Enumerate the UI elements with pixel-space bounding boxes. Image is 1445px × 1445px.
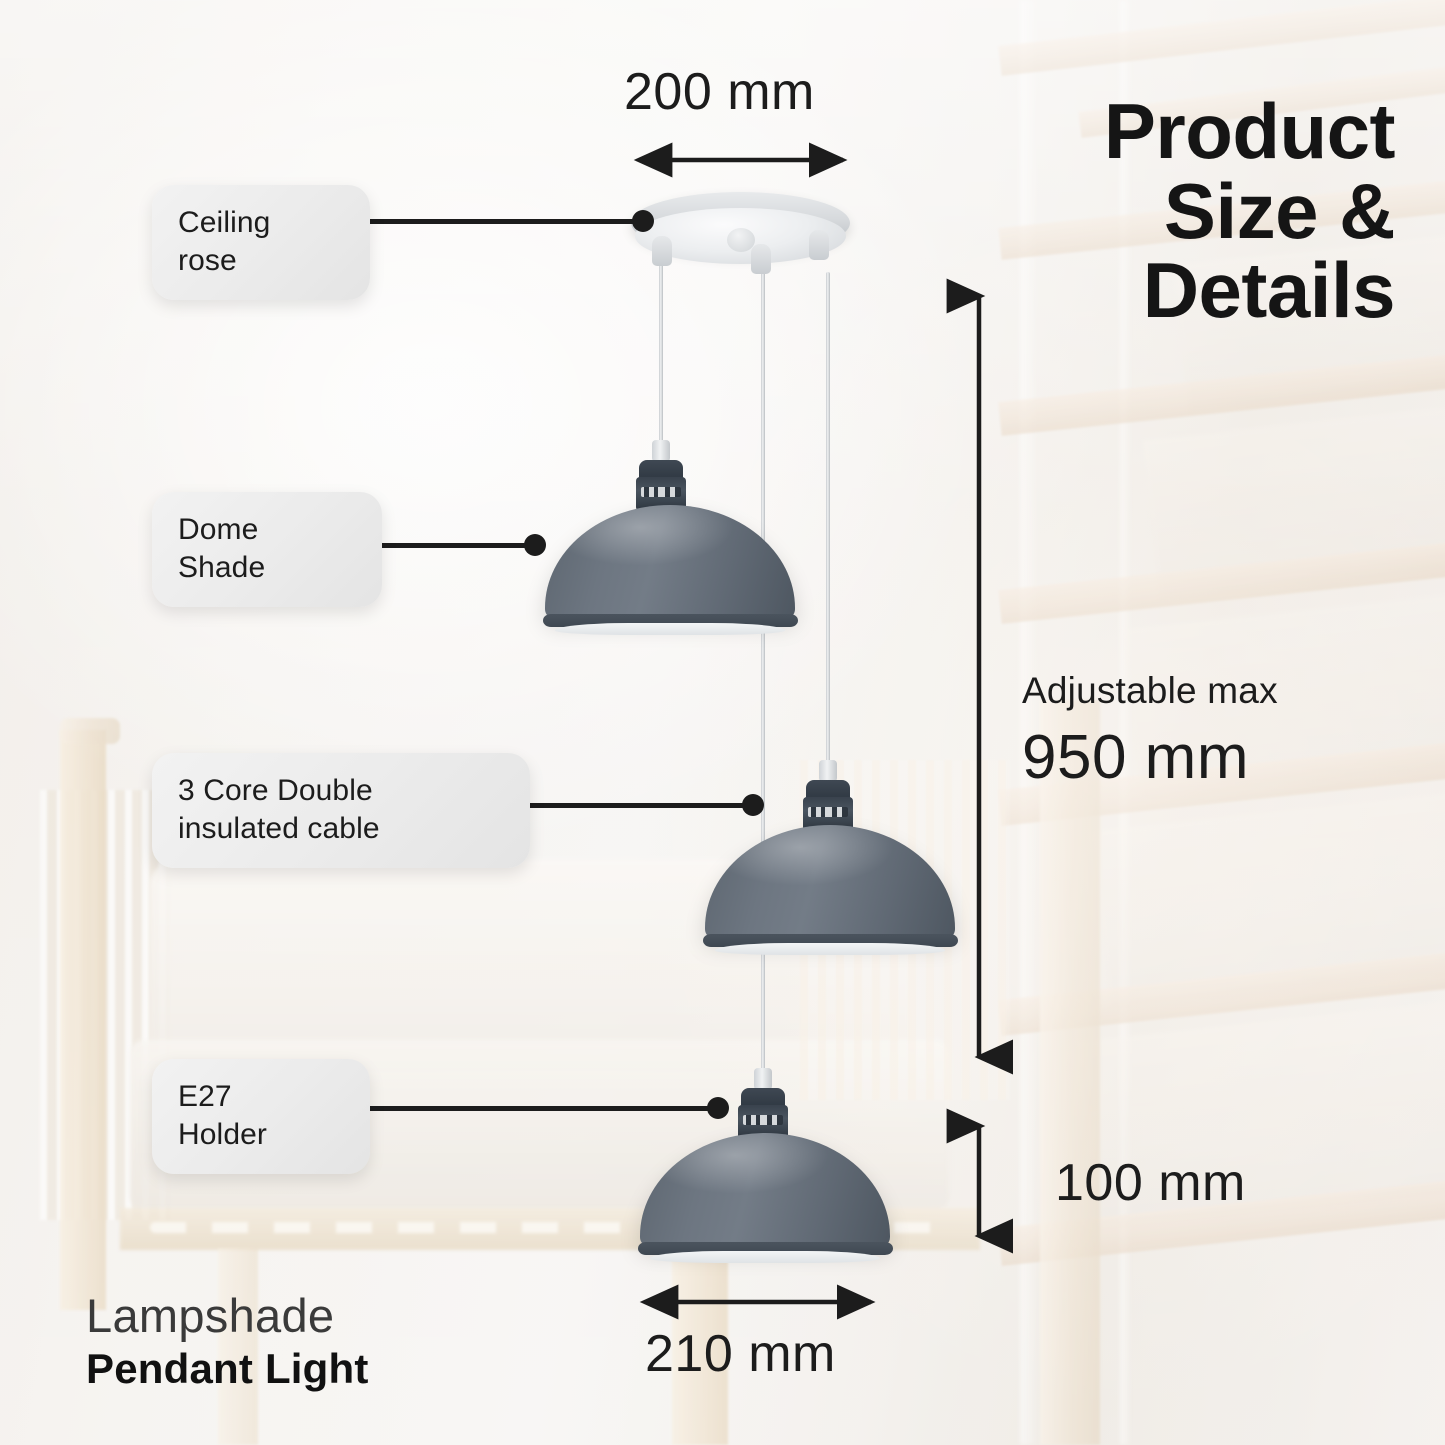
leader-dot-dome-shade [524,534,546,556]
leader-dot-ceiling-rose [632,210,654,232]
leader-dot-holder [707,1097,729,1119]
label-adjustable-caption: Adjustable max [1022,670,1278,712]
leader-dot-cable [742,794,764,816]
leader-line-cable [525,803,753,808]
leader-line-dome-shade [367,543,534,548]
dome-shade-top [545,505,795,635]
page-title: Product Size & Details [935,92,1395,331]
callout-ceiling-rose[interactable]: Ceiling rose [152,185,370,300]
brand-line-2: Pendant Light [86,1345,369,1393]
brand-block: Lampshade Pendant Light [86,1288,369,1393]
leader-line-holder [360,1106,718,1111]
cable-middle [826,272,830,772]
dome-shade-bottom [640,1133,890,1263]
ceiling-rose [631,192,850,268]
cable-left [659,258,663,453]
cable-right [761,262,765,1080]
leader-line-ceiling-rose [362,219,642,224]
product-infographic: Ceiling rose Dome Shade 3 Core Double in… [0,0,1445,1445]
label-shade-height: 100 mm [1055,1153,1246,1213]
label-adjustable-value: 950 mm [1022,722,1249,793]
callout-dome-shade[interactable]: Dome Shade [152,492,382,607]
dome-shade-middle [705,825,955,955]
page-title-line-2: Size & [935,172,1395,252]
page-title-line-3: Details [935,251,1395,331]
label-shade-width: 210 mm [645,1324,836,1384]
brand-line-1: Lampshade [86,1288,369,1343]
callout-cable[interactable]: 3 Core Double insulated cable [152,753,530,868]
callout-holder[interactable]: E27 Holder [152,1059,370,1174]
label-rose-width: 200 mm [624,62,815,122]
page-title-line-1: Product [935,92,1395,172]
